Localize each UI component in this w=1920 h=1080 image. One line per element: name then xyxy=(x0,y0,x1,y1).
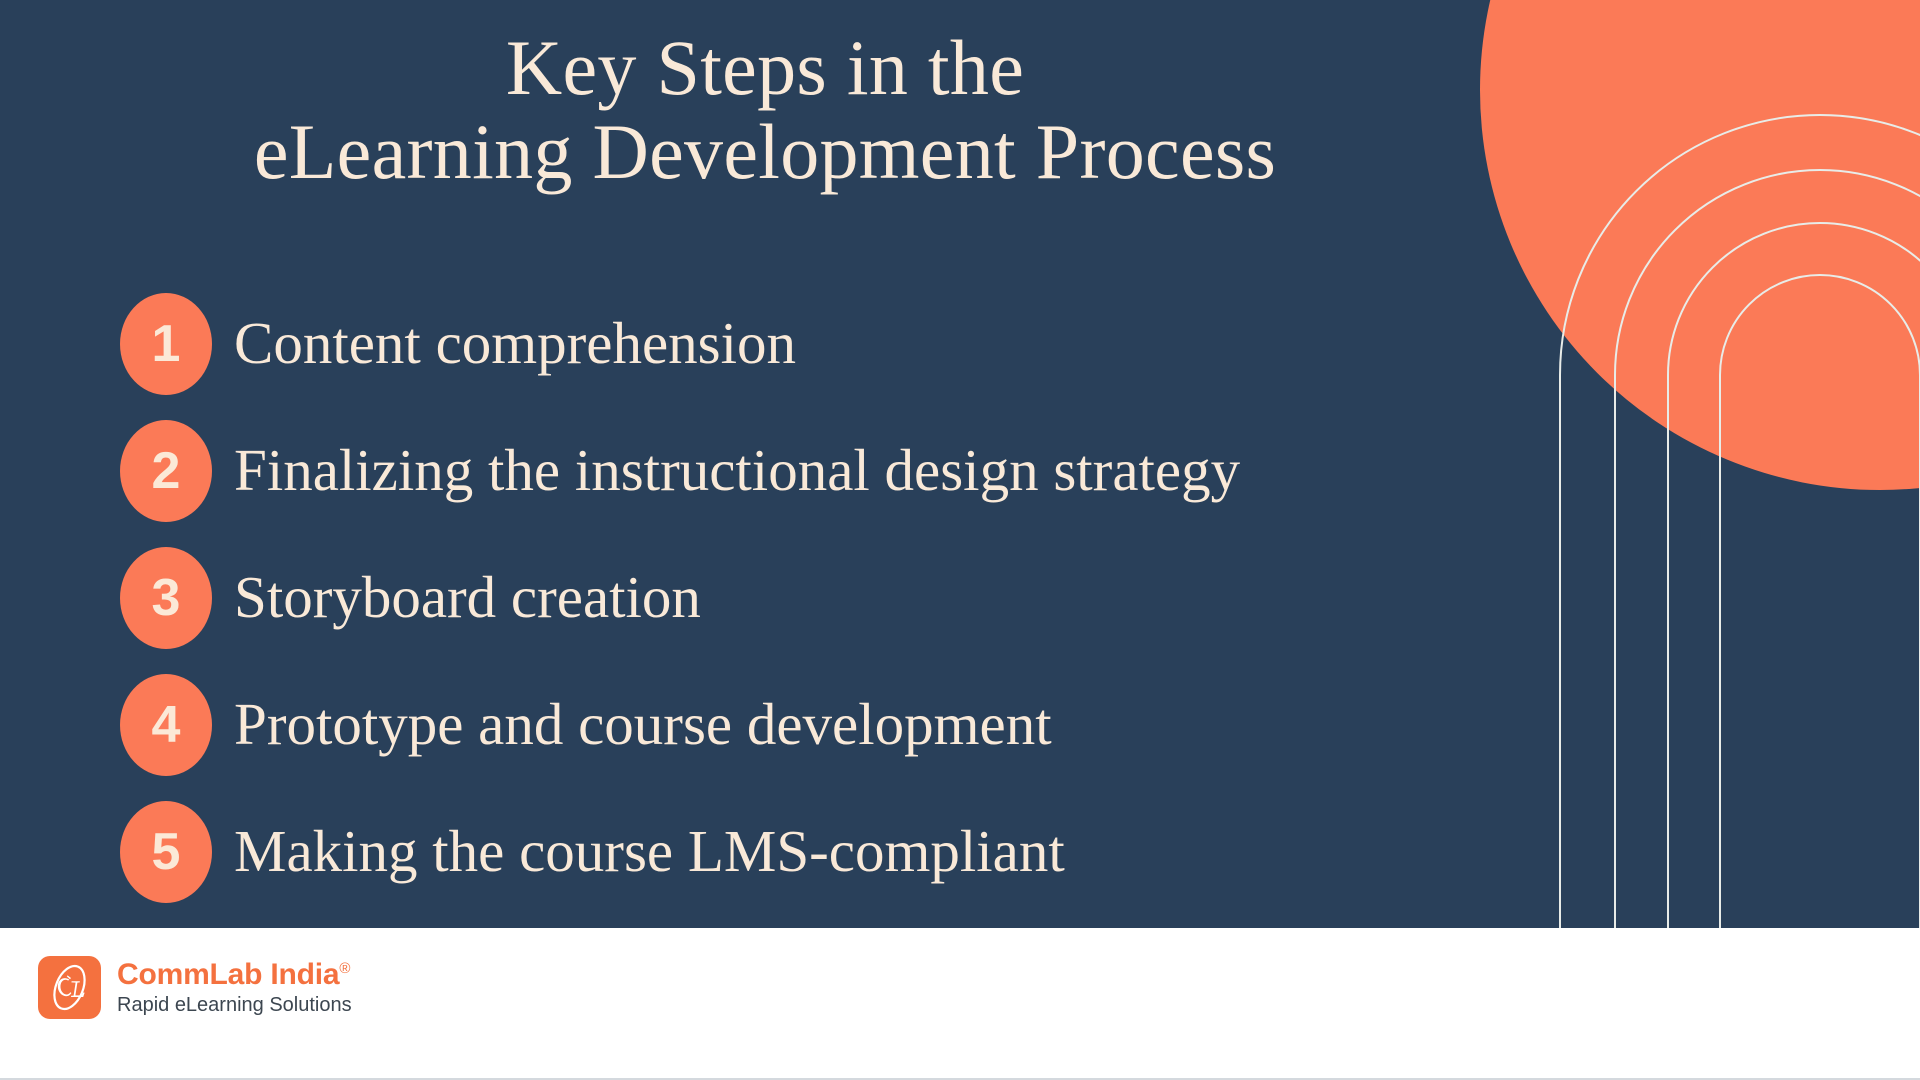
main-panel: Key Steps in the eLearning Development P… xyxy=(0,0,1920,928)
decorative-arc-group xyxy=(1560,115,1920,928)
step-number-badge-4: 4 xyxy=(120,674,212,776)
logo-wordmark: CommLab India® Rapid eLearning Solutions xyxy=(117,959,352,1017)
step-row-2: 2 Finalizing the instructional design st… xyxy=(120,407,1500,534)
step-label-2: Finalizing the instructional design stra… xyxy=(234,440,1240,502)
decorative-arc-3 xyxy=(1668,223,1920,928)
decorative-orange-circle xyxy=(1480,0,1920,490)
slide-title: Key Steps in the eLearning Development P… xyxy=(0,26,1530,194)
step-row-3: 3 Storyboard creation xyxy=(120,534,1500,661)
step-row-4: 4 Prototype and course development xyxy=(120,661,1500,788)
step-label-1: Content comprehension xyxy=(234,313,796,375)
commlab-india-logo[interactable]: CommLab India® Rapid eLearning Solutions xyxy=(38,956,352,1019)
commlab-logo-mark-icon xyxy=(38,956,101,1019)
step-label-5: Making the course LMS-compliant xyxy=(234,821,1065,883)
title-line-2: eLearning Development Process xyxy=(0,110,1530,194)
decorative-arc-1 xyxy=(1560,115,1920,928)
brand-name: CommLab India® xyxy=(117,959,352,991)
registered-trademark-icon: ® xyxy=(339,960,350,977)
step-number-badge-5: 5 xyxy=(120,801,212,903)
step-label-4: Prototype and course development xyxy=(234,694,1052,756)
step-number-badge-3: 3 xyxy=(120,547,212,649)
brand-name-text: CommLab India xyxy=(117,958,339,991)
step-label-3: Storyboard creation xyxy=(234,567,701,629)
title-line-1: Key Steps in the xyxy=(0,26,1530,110)
steps-list: 1 Content comprehension 2 Finalizing the… xyxy=(120,280,1500,915)
step-number-badge-1: 1 xyxy=(120,293,212,395)
logo-ellipse-icon xyxy=(49,962,91,1014)
logo-letter-c xyxy=(58,978,72,996)
step-row-5: 5 Making the course LMS-compliant xyxy=(120,788,1500,915)
decorative-arc-4 xyxy=(1720,275,1920,928)
brand-tagline: Rapid eLearning Solutions xyxy=(117,994,352,1016)
footer-bar: CommLab India® Rapid eLearning Solutions xyxy=(0,928,1920,1080)
step-row-1: 1 Content comprehension xyxy=(120,280,1500,407)
decorative-arc-2 xyxy=(1615,170,1920,928)
slide-canvas: Key Steps in the eLearning Development P… xyxy=(0,0,1920,1080)
step-number-badge-2: 2 xyxy=(120,420,212,522)
